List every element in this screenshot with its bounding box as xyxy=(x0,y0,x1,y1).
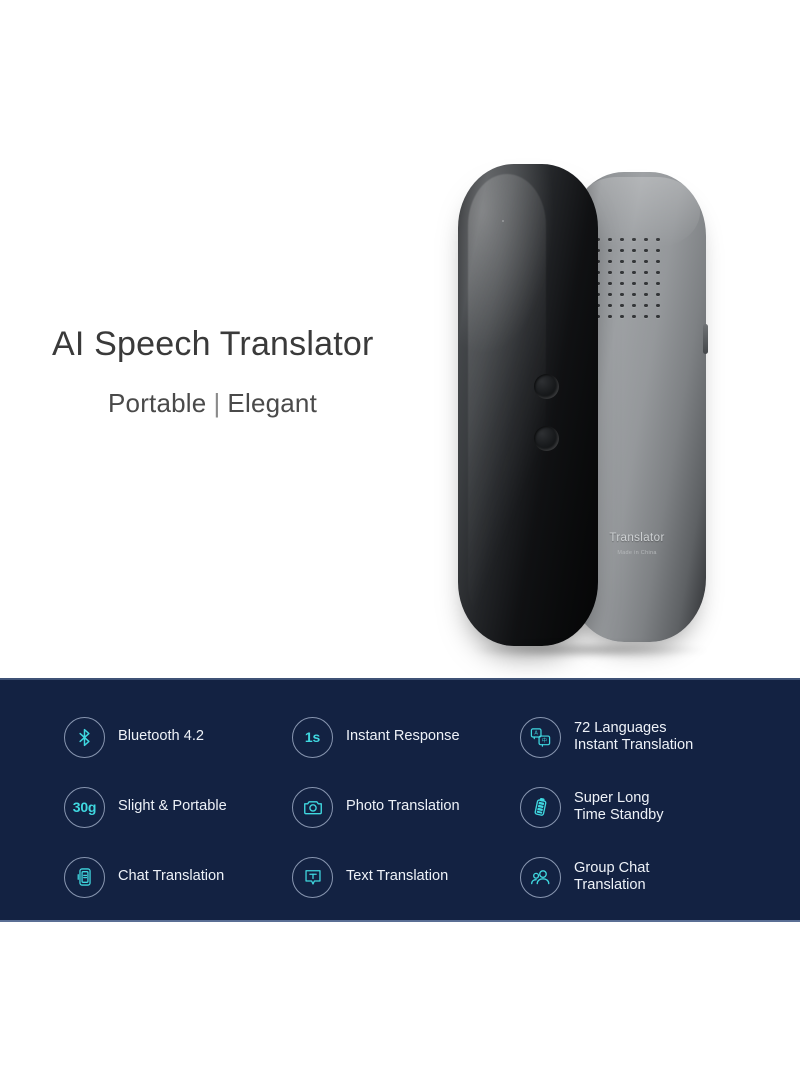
speaker-grille-icon xyxy=(592,234,664,322)
svg-text:A: A xyxy=(534,730,538,736)
svg-text:中: 中 xyxy=(542,735,547,743)
text-bubble-icon xyxy=(292,857,333,898)
power-side-button[interactable] xyxy=(703,324,708,354)
glass-reflection xyxy=(468,174,546,629)
translator-front-unit xyxy=(458,164,598,646)
page-title: AI Speech Translator xyxy=(52,325,374,364)
product-image: Translator Made in China xyxy=(440,150,720,660)
translate-button-top[interactable] xyxy=(534,374,559,399)
icon-text: 30g xyxy=(73,799,97,815)
feature-label: Photo Translation xyxy=(346,798,460,815)
product-shadow xyxy=(470,642,710,658)
hero-section: AI Speech Translator Portable|Elegant Tr… xyxy=(0,0,800,678)
icon-text: 1s xyxy=(305,729,320,745)
feature-label: Text Translation xyxy=(346,868,448,885)
bluetooth-icon xyxy=(64,717,105,758)
feature-label: Chat Translation xyxy=(118,868,224,885)
weight-30g-icon: 30g xyxy=(64,787,105,828)
feature-item-photo-translation[interactable]: Photo Translation xyxy=(292,787,520,828)
feature-item-chat-translation[interactable]: Chat Translation xyxy=(64,857,292,898)
feature-item-instant-response[interactable]: 1s Instant Response xyxy=(292,717,520,758)
subtitle-separator: | xyxy=(206,388,227,418)
feature-label: Bluetooth 4.2 xyxy=(118,728,204,745)
feature-item-group-chat[interactable]: Group Chat Translation xyxy=(520,857,764,898)
translate-bubbles-icon: A 中 xyxy=(520,717,561,758)
chat-device-icon xyxy=(64,857,105,898)
subtitle-secondary: Elegant xyxy=(227,388,317,418)
feature-label: Group Chat Translation xyxy=(574,860,649,894)
feature-label: Slight & Portable xyxy=(118,798,227,815)
stopwatch-1s-icon: 1s xyxy=(292,717,333,758)
feature-item-text-translation[interactable]: Text Translation xyxy=(292,857,520,898)
feature-label: Instant Response xyxy=(346,728,460,745)
feature-item-long-standby[interactable]: Super Long Time Standby xyxy=(520,787,764,828)
group-people-icon xyxy=(520,857,561,898)
feature-item-bluetooth[interactable]: Bluetooth 4.2 xyxy=(64,717,292,758)
subtitle-primary: Portable xyxy=(108,388,206,418)
page-subtitle: Portable|Elegant xyxy=(108,388,317,419)
translate-button-bottom[interactable] xyxy=(534,426,559,451)
feature-label: 72 Languages Instant Translation xyxy=(574,720,693,754)
feature-item-slight-portable[interactable]: 30g Slight & Portable xyxy=(64,787,292,828)
battery-icon xyxy=(520,787,561,828)
feature-panel: Bluetooth 4.2 1s Instant Response A 中 xyxy=(0,678,800,922)
feature-item-72-languages[interactable]: A 中 72 Languages Instant Translation xyxy=(520,717,764,758)
feature-grid: Bluetooth 4.2 1s Instant Response A 中 xyxy=(64,702,764,912)
feature-label: Super Long Time Standby xyxy=(574,790,664,824)
camera-icon xyxy=(292,787,333,828)
